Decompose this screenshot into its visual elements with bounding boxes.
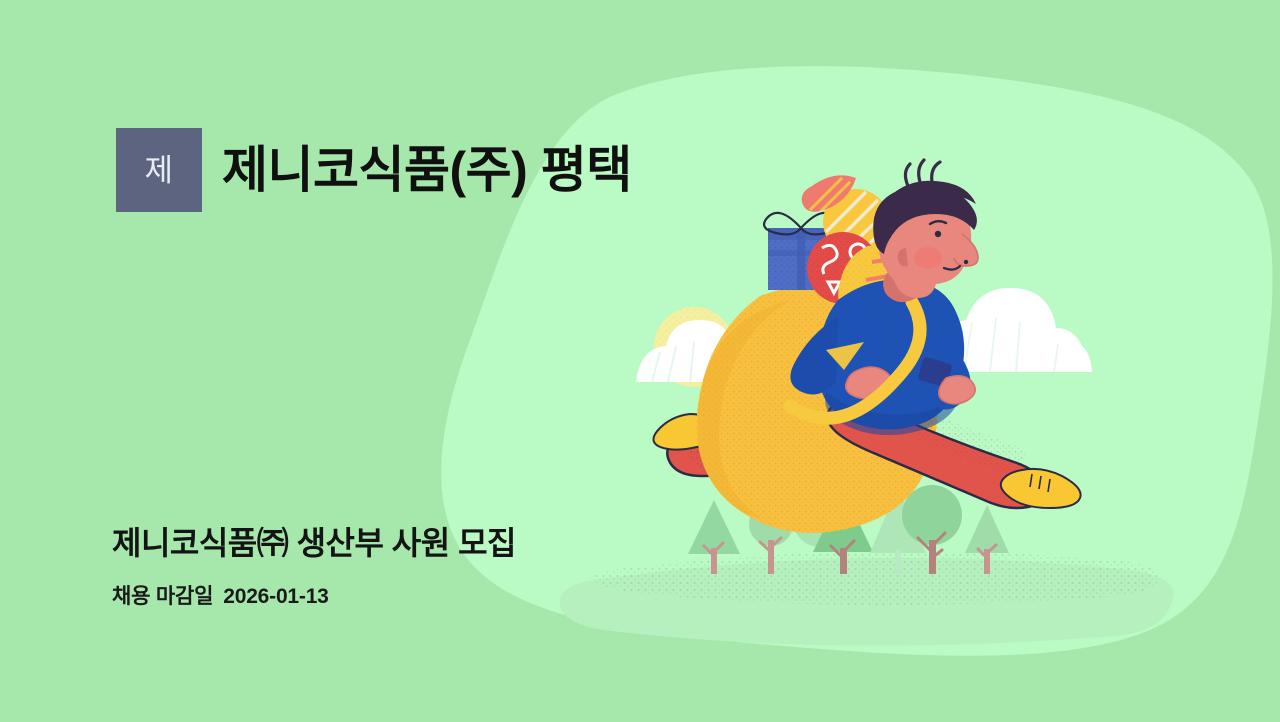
runner-shirt — [818, 279, 964, 429]
runner-front-leg — [828, 396, 1046, 508]
runner-back-arm — [790, 314, 878, 394]
posting-summary: 제니코식품㈜ 생산부 사원 모집 채용 마감일2026-01-13 — [112, 523, 516, 610]
job-posting-card: 제 제니코식품(주) 평택 제니코식품㈜ 생산부 사원 모집 채용 마감일202… — [0, 0, 1280, 722]
deadline-line: 채용 마감일2026-01-13 — [112, 580, 516, 610]
runner-front-hand — [939, 376, 975, 404]
cloud-cluster-left — [636, 320, 758, 382]
illustration-running-man-with-gift-sack — [0, 0, 1280, 722]
runner-front-shoe — [1001, 469, 1081, 508]
runner-front-arm — [922, 330, 971, 410]
sun-shape — [654, 307, 734, 387]
ground-strip — [560, 558, 1174, 646]
ball-red-patterned — [807, 232, 879, 304]
runner-figure — [653, 160, 1080, 533]
sack-strap-back — [876, 302, 922, 442]
company-title: 제니코식품(주) 평택 — [222, 144, 632, 197]
ribbon-flag — [802, 175, 856, 218]
deadline-date: 2026-01-13 — [223, 585, 328, 608]
background-fill — [0, 0, 1280, 722]
runner-back-leg — [667, 404, 822, 476]
company-logo-initial: 제 — [144, 155, 173, 186]
gift-sack — [697, 284, 938, 534]
sack-strap-front — [790, 302, 920, 418]
cloud-cluster-right — [928, 288, 1092, 372]
deadline-label: 채용 마감일 — [112, 585, 213, 608]
runner-hair — [873, 185, 977, 254]
ball-yellow-striped — [823, 189, 889, 258]
company-logo-badge: 제 — [116, 128, 202, 212]
tree-row — [688, 485, 1009, 574]
job-title: 제니코식품㈜ 생산부 사원 모집 — [112, 523, 516, 563]
runner-back-shoe — [653, 414, 721, 450]
runner-head — [873, 160, 978, 298]
cheek-blush — [914, 247, 942, 269]
card-header: 제 제니코식품(주) 평택 — [116, 128, 632, 212]
gift-box — [764, 213, 838, 290]
striped-parcel — [838, 246, 936, 336]
runner-back-hand — [846, 367, 892, 399]
